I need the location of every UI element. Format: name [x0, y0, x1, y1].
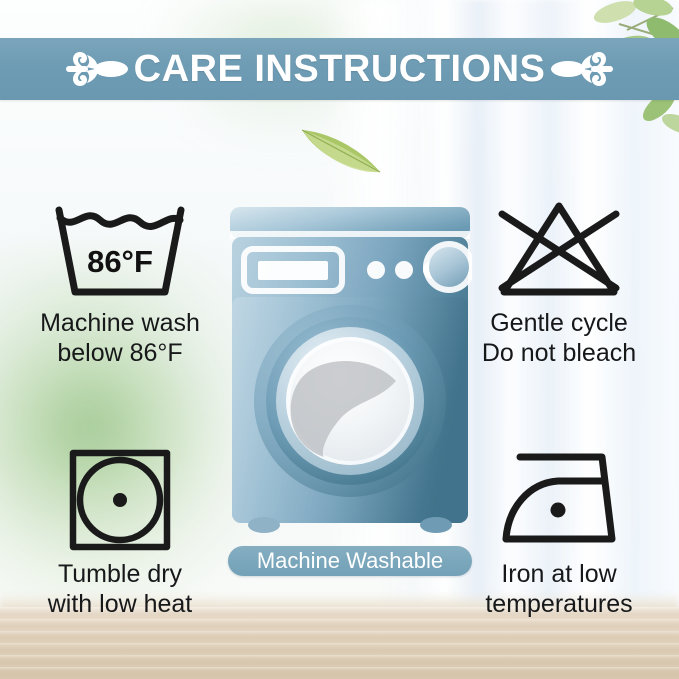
care-item-caption: Iron at low temperatures: [444, 559, 674, 619]
care-instructions-graphic: CARE INSTRUCTIONS: [0, 0, 679, 679]
badge-label: Machine Washable: [257, 550, 443, 572]
care-item-caption: Machine wash below 86°F: [5, 308, 235, 368]
wash-tub-icon: 86°F: [5, 192, 235, 304]
care-item-tumble-dry: Tumble dry with low heat: [5, 443, 235, 619]
indicator-dot: [367, 261, 385, 279]
do-not-bleach-triangle-icon: [444, 192, 674, 304]
care-item-caption: Tumble dry with low heat: [5, 559, 235, 619]
iron-low-heat-icon: [444, 443, 674, 555]
page-title: CARE INSTRUCTIONS: [134, 50, 546, 88]
wash-temperature-label: 86°F: [87, 244, 153, 279]
care-item-gentle-cycle-no-bleach: Gentle cycle Do not bleach: [444, 192, 674, 368]
header-banner: CARE INSTRUCTIONS: [0, 38, 679, 100]
care-item-caption: Gentle cycle Do not bleach: [444, 308, 674, 368]
fleur-de-lis-icon: [551, 44, 621, 94]
tumble-dry-low-icon: [5, 443, 235, 555]
machine-washable-badge: Machine Washable: [228, 546, 472, 576]
care-item-machine-wash: 86°F Machine wash below 86°F: [5, 192, 235, 368]
washing-machine-illustration: [228, 205, 472, 535]
leaf-icon: [296, 120, 388, 180]
fleur-de-lis-icon: [58, 44, 128, 94]
indicator-dot: [395, 261, 413, 279]
care-item-iron-low: Iron at low temperatures: [444, 443, 674, 619]
